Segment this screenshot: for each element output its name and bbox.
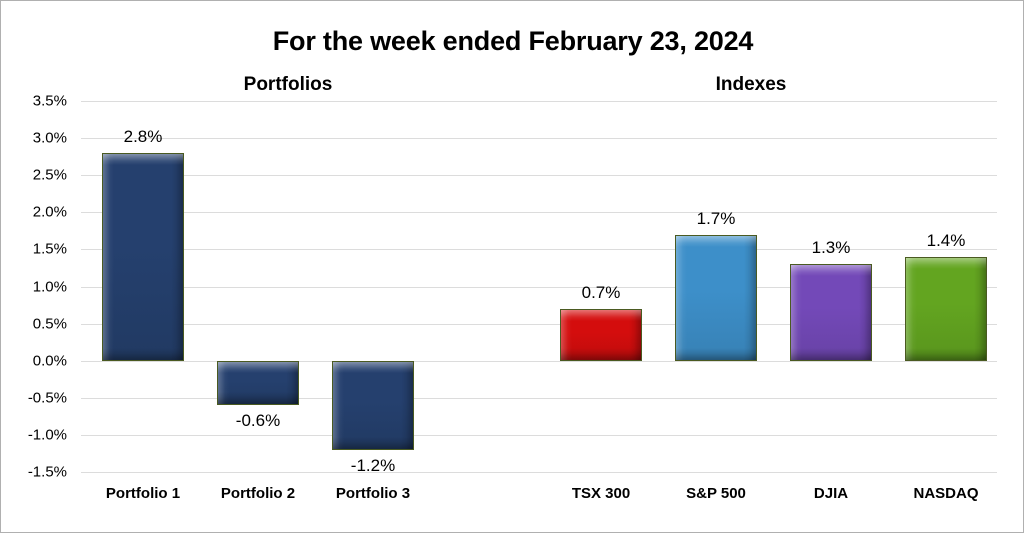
bar-s-p-500[interactable]	[675, 235, 757, 361]
data-label-portfolio-3: -1.2%	[332, 456, 414, 476]
group-title-portfolios: Portfolios	[188, 74, 388, 96]
bar-portfolio-3[interactable]	[332, 361, 414, 450]
bar-nasdaq[interactable]	[905, 257, 987, 361]
category-label-s-p-500: S&P 500	[651, 485, 781, 502]
y-tick-label: 2.5%	[0, 167, 67, 184]
bar-fill	[332, 361, 414, 450]
bar-fill	[675, 235, 757, 361]
bar-fill	[905, 257, 987, 361]
y-tick-label: -0.5%	[0, 389, 67, 406]
y-tick-label: 3.5%	[0, 93, 67, 110]
y-tick-label: 1.5%	[0, 241, 67, 258]
gridline-neg1-5	[81, 472, 997, 473]
data-label-nasdaq: 1.4%	[905, 231, 987, 251]
bar-djia[interactable]	[790, 264, 872, 360]
bar-portfolio-2[interactable]	[217, 361, 299, 406]
bar-tsx-300[interactable]	[560, 309, 642, 361]
bar-fill	[217, 361, 299, 406]
gridline-neg1-0	[81, 435, 997, 436]
data-label-s-p-500: 1.7%	[675, 209, 757, 229]
plot-area: 3.5%3.0%2.5%2.0%1.5%1.0%0.5%0.0%-0.5%-1.…	[81, 101, 997, 472]
bar-fill	[102, 153, 184, 361]
category-label-djia: DJIA	[766, 485, 896, 502]
group-title-indexes: Indexes	[651, 74, 851, 96]
bar-chart: For the week ended February 23, 2024 Por…	[0, 0, 1024, 533]
y-tick-label: 1.0%	[0, 278, 67, 295]
bar-portfolio-1[interactable]	[102, 153, 184, 361]
category-label-nasdaq: NASDAQ	[881, 485, 1011, 502]
y-tick-label: 3.0%	[0, 130, 67, 147]
y-tick-label: -1.5%	[0, 464, 67, 481]
gridline-3neg5	[81, 101, 997, 102]
chart-title: For the week ended February 23, 2024	[1, 26, 1024, 57]
category-label-portfolio-2: Portfolio 2	[193, 485, 323, 502]
y-tick-label: 0.0%	[0, 352, 67, 369]
data-label-tsx-300: 0.7%	[560, 283, 642, 303]
data-label-djia: 1.3%	[790, 238, 872, 258]
gridline-2neg5	[81, 175, 997, 176]
gridline-2neg0	[81, 212, 997, 213]
category-label-portfolio-3: Portfolio 3	[308, 485, 438, 502]
bar-fill	[790, 264, 872, 360]
category-label-portfolio-1: Portfolio 1	[78, 485, 208, 502]
y-tick-label: -1.0%	[0, 426, 67, 443]
y-tick-label: 0.5%	[0, 315, 67, 332]
category-label-tsx-300: TSX 300	[536, 485, 666, 502]
data-label-portfolio-2: -0.6%	[217, 411, 299, 431]
bar-fill	[560, 309, 642, 361]
gridline-3neg0	[81, 138, 997, 139]
data-label-portfolio-1: 2.8%	[102, 127, 184, 147]
y-tick-label: 2.0%	[0, 204, 67, 221]
